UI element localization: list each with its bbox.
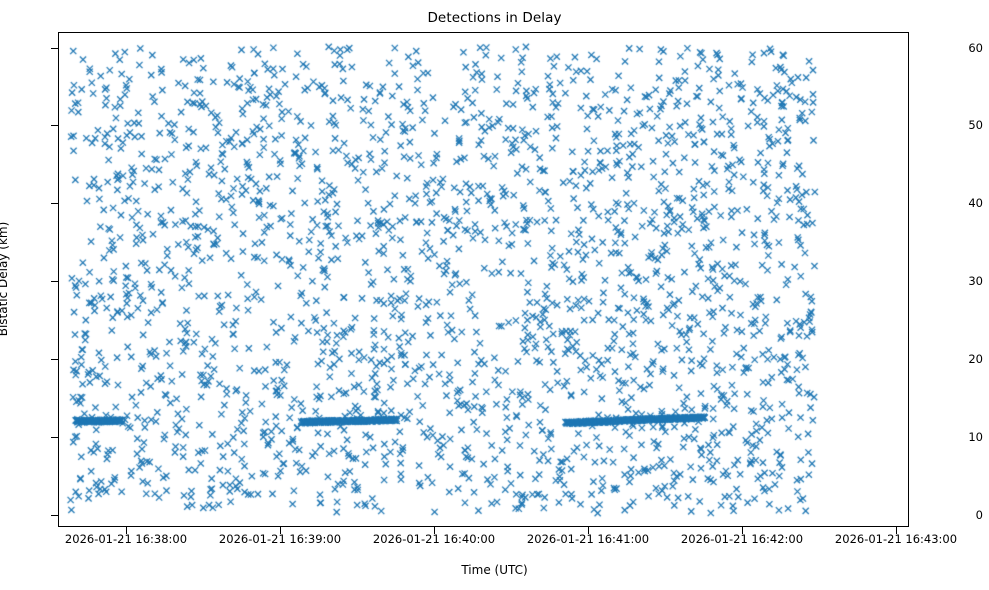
x-tick-label: 2026-01-21 16:43:00 <box>835 532 957 546</box>
y-tick-mark <box>51 281 58 282</box>
x-axis-label: Time (UTC) <box>0 563 989 577</box>
y-tick-label: 60 <box>941 41 989 55</box>
x-tick-label: 2026-01-21 16:41:00 <box>527 532 649 546</box>
y-tick-label: 40 <box>941 196 989 210</box>
y-tick-label: 0 <box>941 508 989 522</box>
y-tick-label: 20 <box>941 352 989 366</box>
x-tick-mark <box>434 527 435 534</box>
x-tick-label: 2026-01-21 16:38:00 <box>65 532 187 546</box>
x-tick-mark <box>280 527 281 534</box>
scatter-plot-canvas <box>59 33 910 528</box>
y-tick-label: 50 <box>941 118 989 132</box>
y-tick-mark <box>51 515 58 516</box>
y-tick-label: 30 <box>941 274 989 288</box>
x-tick-mark <box>742 527 743 534</box>
chart-title: Detections in Delay <box>0 10 989 26</box>
y-axis-label: Bistatic Delay (km) <box>0 222 10 337</box>
x-tick-label: 2026-01-21 16:42:00 <box>681 532 803 546</box>
y-tick-mark <box>51 359 58 360</box>
y-tick-mark <box>51 48 58 49</box>
figure: Detections in Delay Bistatic Delay (km) … <box>0 0 989 590</box>
y-tick-label: 10 <box>941 430 989 444</box>
x-tick-label: 2026-01-21 16:39:00 <box>219 532 341 546</box>
plot-area <box>58 32 909 527</box>
x-tick-mark <box>588 527 589 534</box>
x-tick-mark <box>896 527 897 534</box>
y-tick-mark <box>51 437 58 438</box>
y-tick-mark <box>51 203 58 204</box>
y-tick-mark <box>51 125 58 126</box>
x-tick-mark <box>126 527 127 534</box>
x-tick-label: 2026-01-21 16:40:00 <box>373 532 495 546</box>
